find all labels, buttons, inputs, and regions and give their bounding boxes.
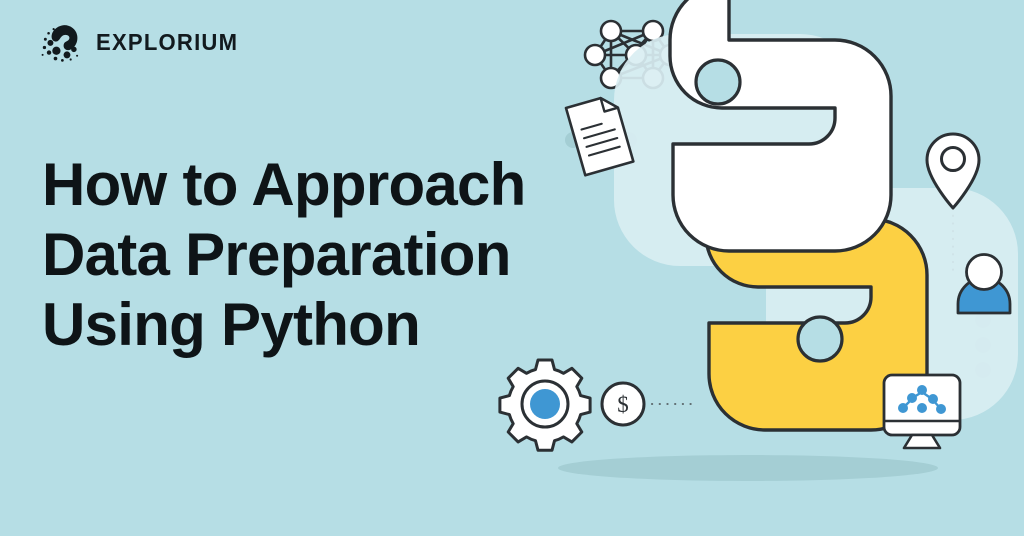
brand-logo[interactable]: EXPLORIUM [38,18,244,66]
artwork-svg: $ [480,0,1024,536]
brand-wordmark: EXPLORIUM [96,31,238,54]
svg-text:$: $ [617,392,629,417]
explorium-dot-cluster-icon [38,19,84,65]
banner-canvas: EXPLORIUM How to Approach Data Preparati… [0,0,1024,536]
python-logo-eye-upper [696,60,740,104]
gear-icon [500,360,590,450]
gear-center-dot [530,389,560,419]
ground-shadow-icon [558,455,938,481]
monitor-chart-icon [884,375,960,448]
dollar-coin-icon: $ [602,383,644,425]
python-logo-eye-lower [798,317,842,361]
python-illustration: $ [480,0,1024,536]
